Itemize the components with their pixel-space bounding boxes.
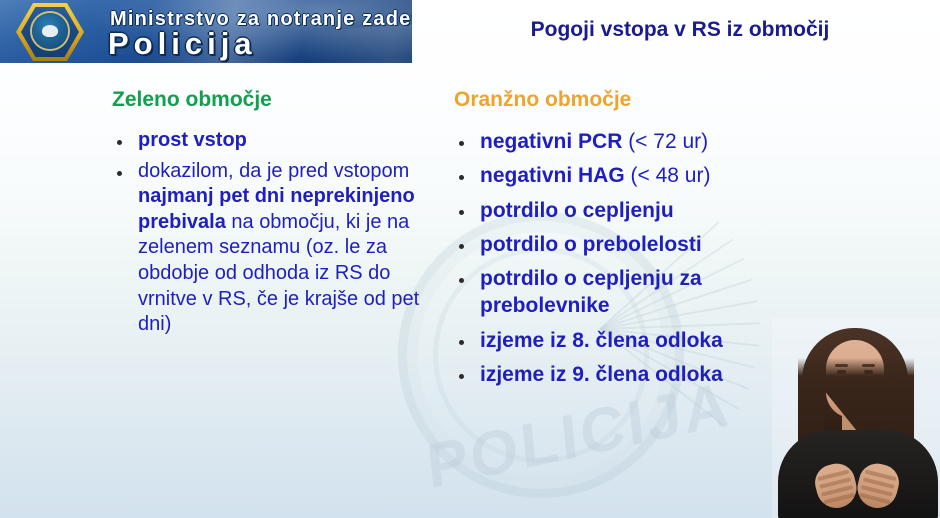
sign-language-interpreter xyxy=(772,318,940,518)
list-item: potrdilo o cepljenju zaprebolevnike xyxy=(450,265,880,320)
slide-canvas: POLICIJA Ministrstvo za notranje zadeve … xyxy=(0,0,940,518)
list-item: dokazilom, da je pred vstopom najmanj pe… xyxy=(108,159,438,338)
list-item-text: potrdilo o prebolelosti xyxy=(480,233,702,256)
list-item-text: izjeme iz 9. člena odloka xyxy=(480,363,723,386)
list-item: potrdilo o prebolelosti xyxy=(450,231,880,258)
list-item-text: dokazilom, da je pred vstopom xyxy=(138,160,409,182)
green-bullet-list: prost vstopdokazilom, da je pred vstopom… xyxy=(108,128,438,338)
list-item-text: prost vstop xyxy=(138,129,247,151)
list-item-text: prebolevnike xyxy=(480,294,610,317)
police-badge-icon xyxy=(12,3,88,61)
list-item: negativni PCR (< 72 ur) xyxy=(450,128,880,155)
green-column-heading: Zeleno območje xyxy=(112,88,438,112)
list-item-text: potrdilo o cepljenju xyxy=(480,199,674,222)
list-item-text: (< 72 ur) xyxy=(622,130,708,153)
banner-organisation-text: Policija xyxy=(108,26,257,62)
interpreter-torso xyxy=(778,430,938,518)
police-header-banner: Ministrstvo za notranje zadeve Policija xyxy=(0,0,412,63)
list-item-text: potrdilo o cepljenju za xyxy=(480,267,702,290)
list-item: prost vstop xyxy=(108,128,438,154)
list-item: potrdilo o cepljenju xyxy=(450,197,880,224)
list-item-text: negativni PCR xyxy=(480,130,622,153)
list-item-text: negativni HAG xyxy=(480,164,625,187)
column-green: Zeleno območje prost vstopdokazilom, da … xyxy=(108,88,438,343)
orange-column-heading: Oranžno območje xyxy=(454,88,880,112)
list-item-text: izjeme iz 8. člena odloka xyxy=(480,329,723,352)
list-item: negativni HAG (< 48 ur) xyxy=(450,162,880,189)
slide-title: Pogoji vstopa v RS iz območij xyxy=(440,18,920,42)
list-item-text: (< 48 ur) xyxy=(625,164,711,187)
